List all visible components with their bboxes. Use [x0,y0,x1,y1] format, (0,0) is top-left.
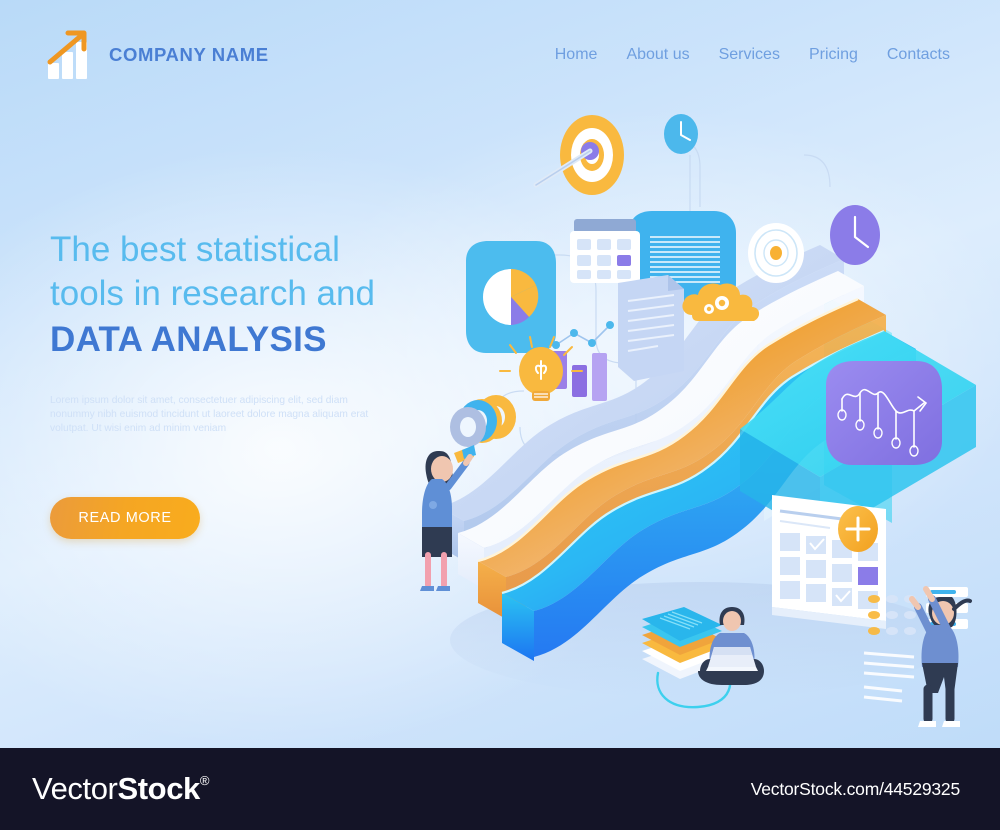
screenshot-root: COMPANY NAME Home About us Services Pric… [0,0,1000,830]
main-navigation: Home About us Services Pricing Contacts [555,46,950,64]
hero-body-text: Lorem ipsum dolor sit amet, consectetuer… [50,394,380,436]
nav-item-services[interactable]: Services [719,46,780,64]
purple-clock-icon [830,205,880,265]
plus-badge-icon [838,506,878,552]
vectorstock-logo-light: Vector [32,771,117,807]
calendar-grid-icon [570,219,640,283]
hero-title-emphasis: DATA ANALYSIS [50,316,450,364]
nav-item-home[interactable]: Home [555,46,598,64]
vectorstock-logo: VectorStock® [32,771,209,807]
bullseye-target-icon [748,223,804,283]
dartboard-target-icon [536,115,624,195]
bar-chart-growth-arrow-icon [46,29,96,81]
site-header: COMPANY NAME Home About us Services Pric… [0,0,1000,110]
nav-item-about-us[interactable]: About us [626,46,689,64]
vectorstock-url: VectorStock.com/44529325 [751,779,960,800]
pie-chart-card-icon [466,241,556,353]
clock-icon [664,114,698,154]
hero-copy-block: The best statistical tools in research a… [50,228,450,436]
hero-title-line-2: tools in research and [50,272,450,316]
read-more-button[interactable]: READ MORE [50,497,200,539]
vectorstock-logo-bold: Stock [117,771,199,807]
hero-illustration [400,95,1000,735]
vectorstock-watermark-bar: VectorStock® VectorStock.com/44529325 [0,748,1000,830]
line-chart-card-icon [826,361,942,465]
brand-name: COMPANY NAME [109,44,269,66]
bar-line-chart-icon [552,321,614,401]
nav-item-pricing[interactable]: Pricing [809,46,858,64]
nav-item-contacts[interactable]: Contacts [887,46,950,64]
document-icon [618,275,684,381]
hero-title-line-1: The best statistical [50,228,450,272]
landing-page-canvas: COMPANY NAME Home About us Services Pric… [0,0,1000,748]
rings-donut-icon [450,395,516,463]
registered-trademark-icon: ® [200,773,209,788]
brand-logo[interactable]: COMPANY NAME [46,29,269,81]
